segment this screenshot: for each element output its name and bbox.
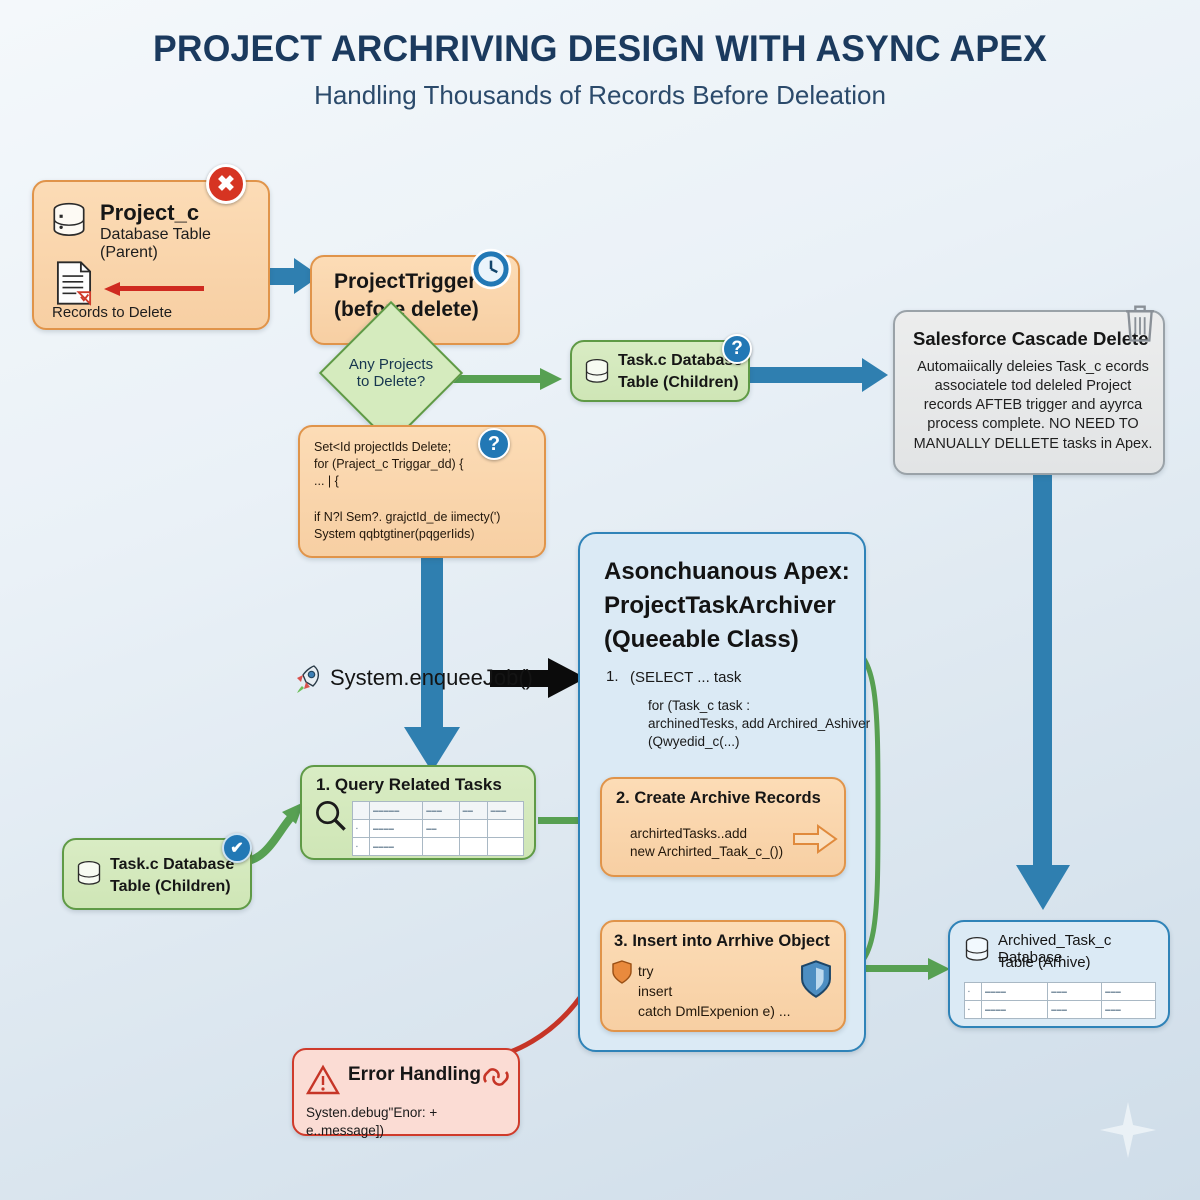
- step1-query-node[interactable]: 1. Query Related Tasks ▬▬▬▬▬ ▬▬▬ ▬▬ ▬▬▬ …: [300, 765, 536, 860]
- records-to-delete-arrow: [104, 282, 204, 296]
- table-cell: ▬▬▬: [1102, 983, 1156, 1001]
- database-icon: [962, 934, 992, 966]
- step1-mini-table: ▬▬▬▬▬ ▬▬▬ ▬▬ ▬▬▬ ▪ ▬▬▬▬ ▬▬ ▪ ▬▬▬▬: [352, 801, 524, 856]
- cascade-delete-title: Salesforce Cascade Delete: [913, 328, 1149, 350]
- clock-icon: [470, 248, 512, 290]
- async-apex-code-line-1: for (Task_c task :: [648, 697, 750, 715]
- task-table-bottom-line2: Table (Children): [110, 878, 231, 896]
- page-title: PROJECT ARCHRIVING DESIGN WITH ASYNC APE…: [24, 28, 1176, 70]
- table-cell: ▪: [965, 983, 982, 1001]
- arrow-trigger-to-query: [404, 552, 460, 772]
- table-cell: ▪: [965, 1001, 982, 1019]
- verified-check-icon: ✔: [222, 833, 252, 863]
- decision-line2: to Delete?: [357, 373, 425, 390]
- trash-icon: [1122, 302, 1158, 344]
- table-row: ▪ ▬▬▬▬ ▬▬▬ ▬▬▬: [965, 983, 1156, 1001]
- table-row: ▪ ▬▬▬▬: [353, 838, 524, 856]
- trigger-code-line-1: for (Praject_c Triggar_dd) {: [314, 456, 463, 473]
- archive-table-line2: Table (Arhive): [998, 954, 1091, 971]
- delete-x-icon: ✖: [206, 164, 246, 204]
- table-row: ▪ ▬▬▬▬ ▬▬: [353, 820, 524, 838]
- trigger-code-line-4: if N?l Sem?. grajctId_de iimecty('): [314, 509, 500, 526]
- trigger-code-line-2: ... | {: [314, 473, 339, 490]
- table-cell: [353, 802, 370, 820]
- table-cell: ▬▬: [459, 802, 487, 820]
- chain-link-icon: [480, 1062, 512, 1092]
- diagram-canvas: PROJECT ARCHRIVING DESIGN WITH ASYNC APE…: [0, 0, 1200, 1200]
- arrow-task-table-to-cascade: [748, 358, 896, 392]
- rocket-icon: [292, 662, 326, 696]
- async-apex-code-line-2: archinedTesks, add Archired_Ashiver: [648, 715, 870, 733]
- table-cell: ▬▬▬▬: [982, 1001, 1048, 1019]
- table-cell: [459, 820, 487, 838]
- table-cell: ▬▬▬▬: [982, 983, 1048, 1001]
- project-table-subtitle: Database Table (Parent): [100, 226, 268, 262]
- table-cell: ▬▬▬: [1048, 983, 1102, 1001]
- table-cell: ▪: [353, 820, 370, 838]
- table-row: ▪ ▬▬▬▬ ▬▬▬ ▬▬▬: [965, 1001, 1156, 1019]
- database-icon: [582, 356, 612, 388]
- task-table-bottom-line1: Task.c Database: [110, 856, 234, 874]
- step3-code-line-0: try: [638, 962, 654, 980]
- help-question-icon-task-top: ?: [722, 334, 752, 364]
- step3-insert-node[interactable]: 3. Insert into Arrhive Object try insert…: [600, 920, 846, 1032]
- project-table-title: Project_c: [100, 200, 199, 226]
- error-handling-code: Systen.debug"Enor: + e..message]): [306, 1104, 518, 1140]
- table-cell: [487, 838, 523, 856]
- async-apex-step-number: 1.: [606, 668, 619, 685]
- arrow-cascade-to-archive: [1016, 472, 1072, 917]
- table-cell: ▬▬▬: [487, 802, 523, 820]
- table-cell: ▪: [353, 838, 370, 856]
- table-cell: ▬▬▬▬: [370, 820, 423, 838]
- database-icon: [74, 858, 104, 890]
- decision-line1: Any Projects: [349, 356, 433, 373]
- step3-code-line-1: insert: [638, 982, 672, 1000]
- async-apex-code-line-3: (Qwyedid_c(...): [648, 733, 740, 751]
- trigger-code-line-0: Set<Id projectIds Delete;: [314, 439, 451, 456]
- table-cell: [423, 838, 459, 856]
- warning-triangle-icon: [306, 1064, 340, 1096]
- step2-code-line-0: archirtedTasks..add: [630, 825, 747, 843]
- archive-mini-table: ▪ ▬▬▬▬ ▬▬▬ ▬▬▬ ▪ ▬▬▬▬ ▬▬▬ ▬▬▬: [964, 982, 1156, 1019]
- help-question-icon-trigger: ?: [478, 428, 510, 460]
- async-apex-title-line3: (Queeable Class): [604, 626, 799, 654]
- shield-blue-icon: [800, 960, 832, 998]
- error-handling-title: Error Handling: [348, 1064, 481, 1086]
- table-cell: ▬▬▬▬▬: [370, 802, 423, 820]
- table-cell: [459, 838, 487, 856]
- task-table-top-line2: Table (Children): [618, 374, 739, 392]
- table-cell: [487, 820, 523, 838]
- sparkle-watermark: [1100, 1102, 1156, 1158]
- step2-code-line-1: new Archirted_Taak_c_()): [630, 843, 783, 861]
- step3-code-line-2: catch DmlExpenion e) ...: [638, 1002, 791, 1020]
- step2-create-node[interactable]: 2. Create Archive Records archirtedTasks…: [600, 777, 846, 877]
- arrow-right-icon: [792, 823, 838, 855]
- error-handling-node[interactable]: Error Handling Systen.debug"Enor: + e..m…: [292, 1048, 520, 1136]
- archive-table-node[interactable]: Archived_Task_c Database Table (Arhive) …: [948, 920, 1170, 1028]
- table-cell: ▬▬▬: [1102, 1001, 1156, 1019]
- records-to-delete-label: Records to Delete: [52, 304, 172, 321]
- shield-orange-icon: [612, 960, 632, 984]
- table-row: ▬▬▬▬▬ ▬▬▬ ▬▬ ▬▬▬: [353, 802, 524, 820]
- table-cell: ▬▬▬: [1048, 1001, 1102, 1019]
- step3-title: 3. Insert into Arrhive Object: [614, 932, 830, 951]
- trigger-code-line-5: System qqbtgtiner(pqgerIids): [314, 526, 475, 543]
- step1-title: 1. Query Related Tasks: [316, 775, 502, 795]
- async-apex-title-line2: ProjectTaskArchiver: [604, 592, 836, 620]
- decision-label: Any Projects to Delete?: [342, 324, 440, 422]
- table-cell: ▬▬: [423, 820, 459, 838]
- async-apex-code-line-0: (SELECT ... task: [630, 668, 741, 688]
- magnifier-icon: [314, 799, 348, 833]
- project-table-node[interactable]: Project_c Database Table (Parent) Record…: [32, 180, 270, 330]
- step2-title: 2. Create Archive Records: [616, 789, 821, 808]
- page-subtitle: Handling Thousands of Records Before Del…: [0, 80, 1200, 111]
- project-trigger-title: ProjectTrigger: [334, 270, 476, 294]
- table-cell: ▬▬▬▬: [370, 838, 423, 856]
- document-icon: [54, 260, 94, 306]
- async-apex-title-line1: Asonchuanous Apex:: [604, 558, 850, 586]
- enqueue-job-label: System.enqueeJob(): [330, 665, 533, 691]
- table-cell: ▬▬▬: [423, 802, 459, 820]
- database-icon: [48, 200, 90, 242]
- cascade-delete-body: Automaiically deleies Task_c ecords asso…: [909, 358, 1157, 454]
